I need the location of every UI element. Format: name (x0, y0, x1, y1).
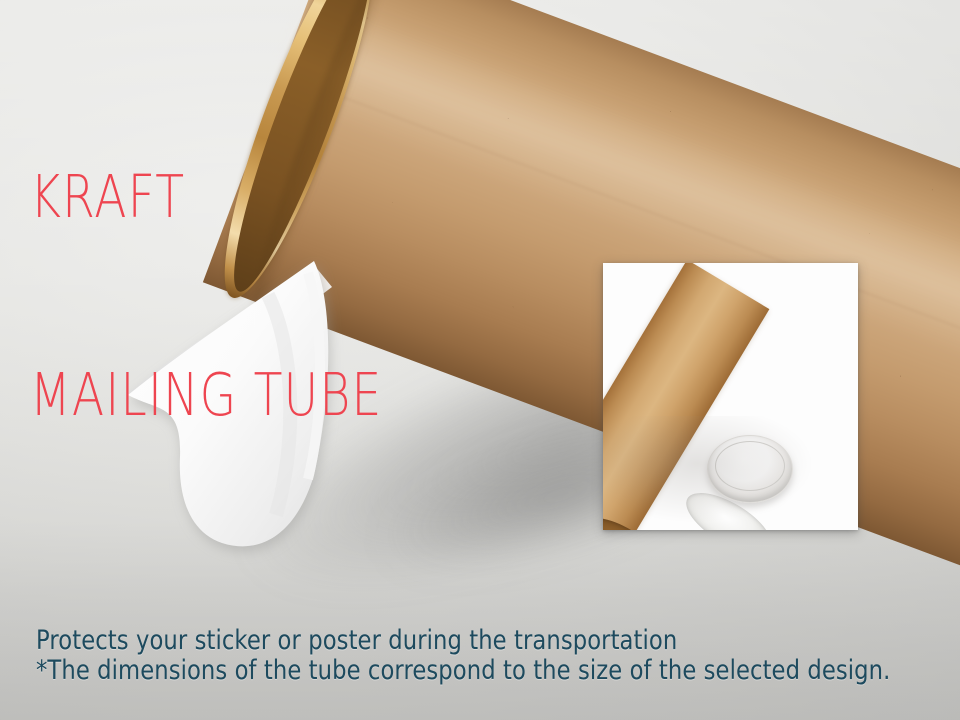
title-line-1: KRAFT (30, 164, 526, 230)
description-line-1: Protects your sticker or poster during t… (36, 624, 737, 657)
product-photo-inset (603, 263, 858, 530)
description-text: Protects your sticker or poster during t… (36, 558, 737, 720)
product-banner: KRAFT MAILING TUBE Protects your sticker… (0, 0, 960, 720)
inset-scene (603, 263, 858, 530)
inset-floor-shadow (603, 416, 858, 530)
page-title: KRAFT MAILING TUBE (30, 32, 526, 560)
title-line-2: MAILING TUBE (30, 362, 526, 428)
footnote-text: *The dimensions of the tube correspond t… (36, 655, 890, 687)
